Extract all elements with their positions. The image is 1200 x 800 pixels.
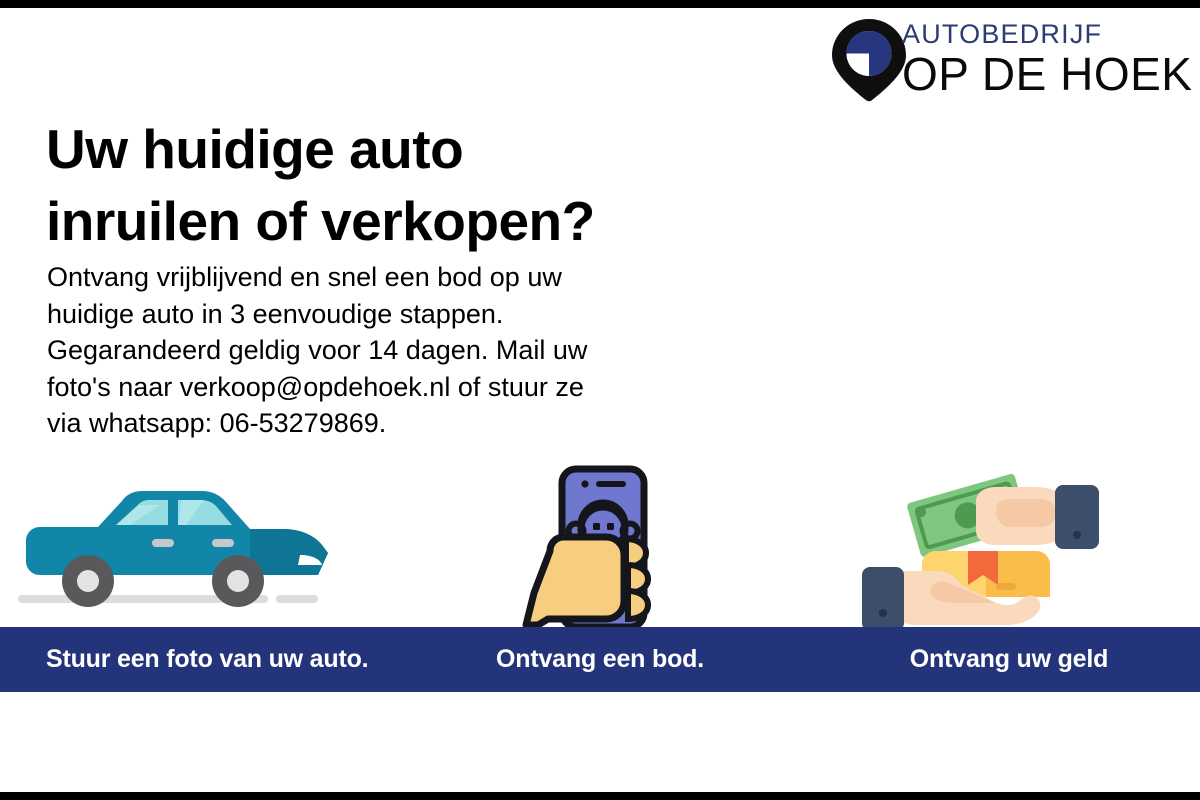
step-caption-3: Ontvang uw geld	[800, 645, 1200, 674]
body-line-3: Gegarandeerd geldig voor 14 dagen. Mail …	[47, 332, 707, 369]
car-side-icon	[0, 455, 400, 630]
map-pin-icon	[824, 18, 914, 102]
steps-caption-bar: Stuur een foto van uw auto. Ontvang een …	[0, 627, 1200, 692]
letterbox-bar-top	[0, 0, 1200, 8]
letterbox-bar-bottom	[0, 792, 1200, 800]
step-caption-2: Ontvang een bod.	[400, 645, 800, 674]
brand-wordmark: AUTOBEDRIJF OP DE HOEK	[902, 20, 1192, 98]
body-line-2: huidige auto in 3 eenvoudige stappen.	[47, 296, 707, 333]
hand-holding-phone-support-icon	[400, 455, 800, 630]
body-line-4: foto's naar verkoop@opdehoek.nl of stuur…	[47, 369, 707, 406]
brand-logo[interactable]: AUTOBEDRIJF OP DE HOEK	[824, 18, 1200, 102]
page-title: Uw huidige auto inruilen of verkopen?	[46, 113, 706, 257]
brand-line-2: OP DE HOEK	[902, 50, 1192, 98]
body-paragraph: Ontvang vrijblijvend en snel een bod op …	[47, 259, 707, 442]
hands-money-package-icon	[800, 455, 1200, 630]
body-line-1: Ontvang vrijblijvend en snel een bod op …	[47, 259, 707, 296]
brand-line-1: AUTOBEDRIJF	[902, 20, 1192, 48]
poster-canvas: AUTOBEDRIJF OP DE HOEK Uw huidige auto i…	[0, 0, 1200, 800]
headline-line-2: inruilen of verkopen?	[46, 185, 706, 257]
steps-illustrations	[0, 455, 1200, 630]
step-caption-1: Stuur een foto van uw auto.	[0, 645, 400, 674]
headline-line-1: Uw huidige auto	[46, 113, 706, 185]
body-line-5: via whatsapp: 06-53279869.	[47, 405, 707, 442]
